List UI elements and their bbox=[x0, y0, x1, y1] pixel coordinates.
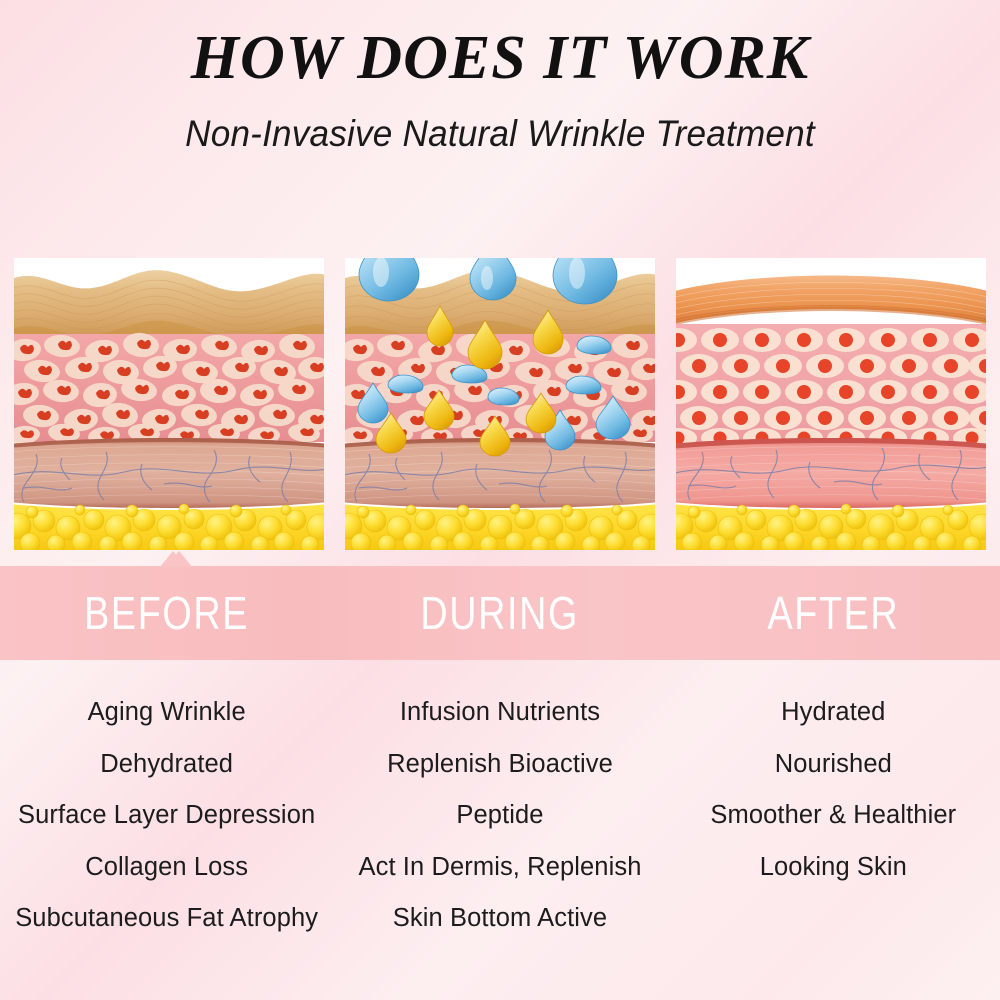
skin-cross-section-after bbox=[676, 258, 986, 550]
page-title: HOW DOES IT WORK bbox=[0, 26, 1000, 91]
benefit-line: Replenish Bioactive bbox=[333, 752, 666, 778]
benefit-line: Peptide bbox=[333, 803, 666, 829]
banner-cell-before: BEFORE bbox=[0, 566, 333, 660]
benefit-line: Nourished bbox=[667, 752, 1000, 778]
benefit-line: Surface Layer Depression bbox=[0, 803, 333, 829]
banner-label-during: DURING bbox=[421, 586, 580, 640]
benefit-line: Looking Skin bbox=[667, 855, 1000, 881]
benefit-line: Aging Wrinkle bbox=[0, 700, 333, 726]
skin-cross-section-before bbox=[14, 258, 324, 550]
benefit-column-after: Hydrated Nourished Smoother & Healthier … bbox=[667, 690, 1000, 980]
benefit-column-before: Aging Wrinkle Dehydrated Surface Layer D… bbox=[0, 690, 333, 980]
benefit-line: Infusion Nutrients bbox=[333, 700, 666, 726]
panel-before bbox=[14, 258, 324, 550]
benefit-line: Act In Dermis, Replenish bbox=[333, 855, 666, 881]
benefit-line: Smoother & Healthier bbox=[667, 803, 1000, 829]
benefit-line: Dehydrated bbox=[0, 752, 333, 778]
panel-during bbox=[345, 258, 655, 550]
benefit-column-during: Infusion Nutrients Replenish Bioactive P… bbox=[333, 690, 666, 980]
benefit-line: Collagen Loss bbox=[0, 855, 333, 881]
banner-label-after: AFTER bbox=[767, 586, 899, 640]
banner-label-before: BEFORE bbox=[84, 586, 249, 640]
diagram-panels bbox=[0, 258, 1000, 550]
page-header: HOW DOES IT WORK Non-Invasive Natural Wr… bbox=[0, 0, 1000, 155]
stage-banner: BEFORE DURING AFTER bbox=[0, 566, 1000, 660]
panel-after bbox=[676, 258, 986, 550]
banner-cell-during: DURING bbox=[333, 566, 666, 660]
benefit-line: Hydrated bbox=[667, 700, 1000, 726]
pointer-after-icon bbox=[160, 551, 186, 567]
benefit-line: Subcutaneous Fat Atrophy bbox=[0, 906, 333, 932]
banner-cell-after: AFTER bbox=[667, 566, 1000, 660]
benefit-columns: Aging Wrinkle Dehydrated Surface Layer D… bbox=[0, 690, 1000, 980]
page-subtitle: Non-Invasive Natural Wrinkle Treatment bbox=[25, 113, 975, 155]
benefit-line: Skin Bottom Active bbox=[333, 906, 666, 932]
skin-cross-section-during bbox=[345, 258, 655, 550]
